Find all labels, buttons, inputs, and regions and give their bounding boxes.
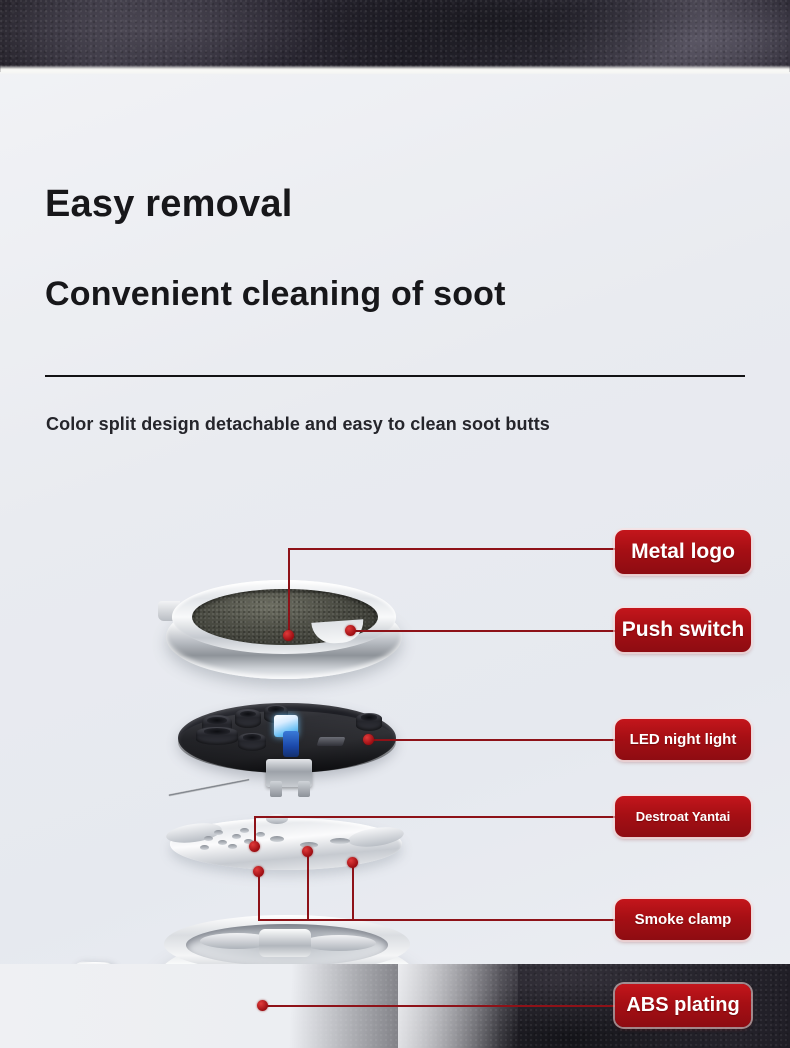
tray-hole (218, 840, 227, 845)
component-cylinder (356, 713, 382, 731)
tray-slot (330, 838, 350, 844)
tray-hole (240, 828, 249, 833)
leader-dot-led (363, 734, 374, 745)
leader-line-push-switch (350, 630, 618, 632)
leader-line-led (368, 739, 618, 741)
callout-smoke-clamp[interactable]: Smoke clamp (615, 899, 751, 940)
page-title: Easy removal (45, 183, 292, 226)
connector-leg (270, 781, 282, 797)
callout-push-switch[interactable]: Push switch (615, 608, 751, 652)
banner-edge-highlight (0, 66, 790, 74)
tray-hole (214, 830, 223, 835)
tray-slot (270, 836, 284, 842)
callout-led-night-light[interactable]: LED night light (615, 719, 751, 760)
callout-label-text: Destroat Yantai (636, 809, 730, 824)
tray-hole (228, 844, 237, 849)
description-text: Color split design detachable and easy t… (46, 414, 550, 435)
leader-dot-smoke-b (302, 846, 313, 857)
leader-line-abs (262, 1005, 618, 1007)
callout-abs-plating[interactable]: ABS plating (615, 984, 751, 1027)
divider (45, 375, 745, 377)
tray-hole (256, 832, 265, 837)
tray-wing-right (347, 824, 405, 850)
chip-component (317, 737, 346, 746)
base-center-post (259, 929, 311, 957)
leader-line-metal-logo (288, 548, 618, 550)
leader-dot-metal-logo (283, 630, 294, 641)
metal-rod (168, 778, 249, 797)
callout-label-text: Push switch (622, 618, 745, 642)
product-feature-page: Easy removal Convenient cleaning of soot… (0, 0, 790, 1048)
leader-dot-smoke-a (253, 866, 264, 877)
callout-destroat-yantai[interactable]: Destroat Yantai (615, 796, 751, 837)
component-cylinder-large (196, 727, 238, 745)
callout-label-text: LED night light (630, 731, 737, 748)
component-cylinder (238, 733, 266, 751)
connector-leg (298, 781, 310, 797)
leader-dot-smoke-c (347, 857, 358, 868)
leader-line-smoke-branch-a (258, 872, 260, 919)
leader-line-smoke-clamp (258, 919, 618, 921)
top-leather-banner (0, 0, 790, 72)
leather-grain-layer-2 (0, 0, 790, 72)
tray-hole (204, 836, 213, 841)
perforated-tray (170, 818, 402, 870)
leader-line-smoke-branch-b (307, 851, 309, 919)
callout-metal-logo[interactable]: Metal logo (615, 530, 751, 574)
callout-label-text: Smoke clamp (635, 911, 732, 928)
leader-line-destroat (254, 816, 618, 818)
leader-line-metal-logo-drop (288, 548, 290, 635)
callout-label-text: Metal logo (631, 540, 735, 564)
tray-hole (200, 845, 209, 850)
base-vane (302, 935, 376, 951)
blue-capacitor (283, 731, 299, 757)
callout-label-text: ABS plating (626, 994, 739, 1017)
leader-dot-abs (257, 1000, 268, 1011)
leader-dot-destroat (249, 841, 260, 852)
component-cylinder (235, 709, 261, 728)
tray-hole (232, 834, 241, 839)
page-subtitle-heading: Convenient cleaning of soot (45, 275, 506, 314)
leader-line-smoke-branch-c (352, 862, 354, 919)
leader-dot-push-switch (345, 625, 356, 636)
